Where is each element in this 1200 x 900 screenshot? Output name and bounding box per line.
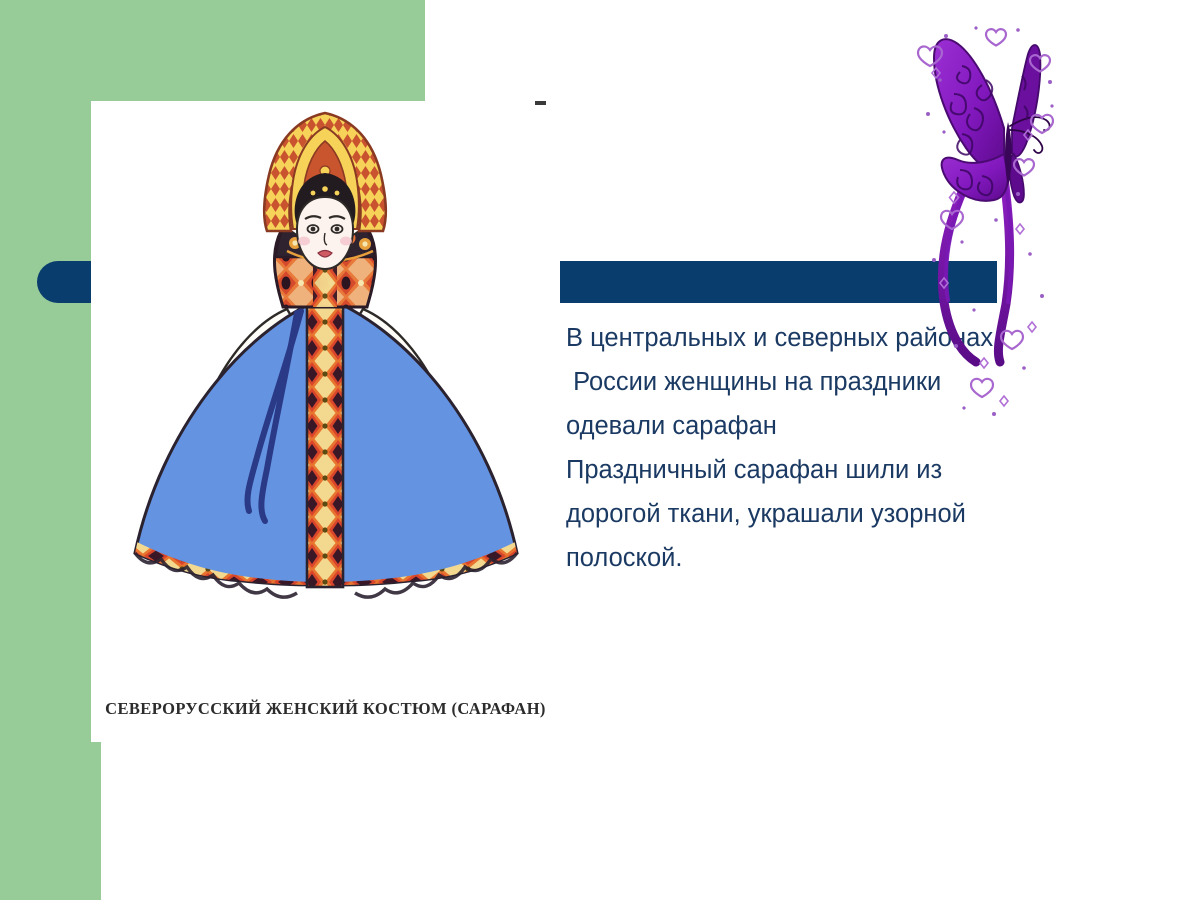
body-line-4: Праздничный сарафан шили из (566, 448, 1111, 492)
body-text-block: В центральных и северных районах России … (566, 316, 1111, 580)
illustration-caption: СЕВЕРОРУССКИЙ ЖЕНСКИЙ КОСТЮМ (САРАФАН) (91, 699, 560, 719)
green-block-bottom (0, 742, 101, 900)
slide-canvas: СЕВЕРОРУССКИЙ ЖЕНСКИЙ КОСТЮМ (САРАФАН) В… (0, 0, 1200, 900)
body-line-5: дорогой ткани, украшали узорной (566, 492, 1111, 536)
banner-bar-right (545, 261, 997, 303)
body-line-1: В центральных и северных районах (566, 316, 1111, 360)
center-placket (307, 297, 343, 587)
body-line-2: России женщины на праздники (566, 360, 1111, 404)
costume-illustration (91, 101, 560, 701)
green-block-top (0, 0, 425, 101)
costume-image-card: СЕВЕРОРУССКИЙ ЖЕНСКИЙ КОСТЮМ (САРАФАН) (91, 101, 560, 742)
body-line-3: одевали сарафан (566, 404, 1111, 448)
body-line-6: полоской. (566, 536, 1111, 580)
green-block-left-column (0, 101, 91, 742)
stray-dash-mark (535, 101, 546, 105)
